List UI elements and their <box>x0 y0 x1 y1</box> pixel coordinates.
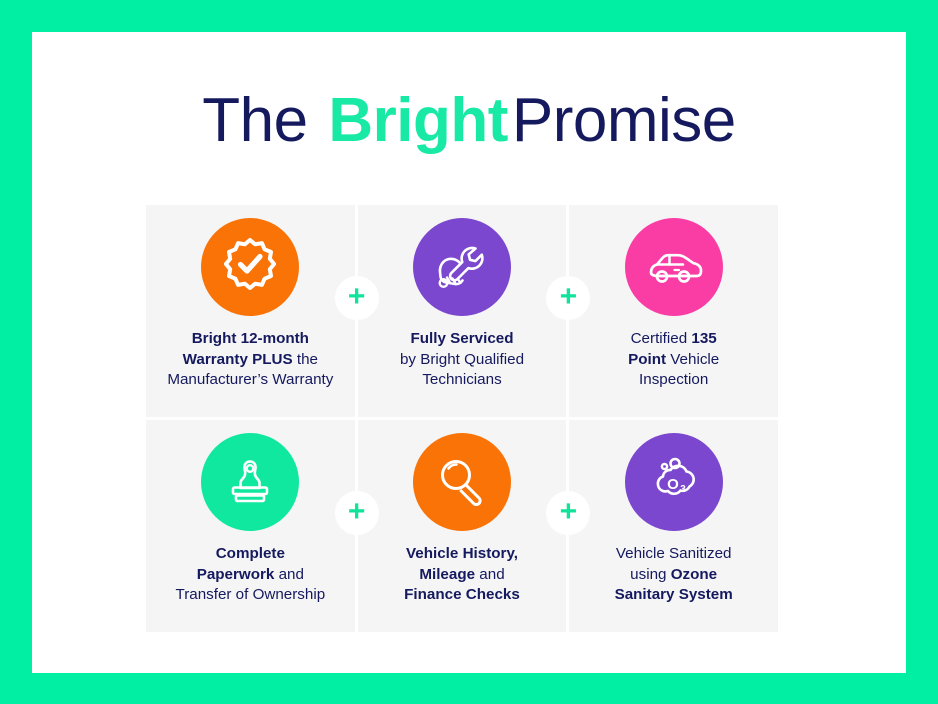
warranty-line1: Bright 12-month <box>192 330 309 347</box>
promise-card-sanitized[interactable]: O 3 Vehicle Sanitized using Ozone Sanita… <box>569 420 778 632</box>
rubber-stamp-icon <box>201 433 299 531</box>
inspection-line2-bold: Point <box>628 351 666 368</box>
warranty-line3: Manufacturer’s Warranty <box>167 371 333 388</box>
inspection-line1-pre: Certified <box>631 330 688 347</box>
serviced-line1: Fully Serviced <box>411 330 514 347</box>
promise-card-warranty-text: Bright 12-month Warranty PLUS the Manufa… <box>146 329 355 391</box>
connector-plus-4: + <box>546 491 590 535</box>
promise-card-history[interactable]: Vehicle History, Mileage and Finance Che… <box>358 420 567 632</box>
plus-icon: + <box>348 282 366 312</box>
warranty-line2-rest: the <box>297 351 318 368</box>
inspection-line3: Inspection <box>639 371 708 388</box>
title-word-bright: Bright <box>324 86 512 155</box>
car-icon <box>625 218 723 316</box>
paperwork-line1: Complete <box>216 545 285 562</box>
promise-card-warranty[interactable]: Bright 12-month Warranty PLUS the Manufa… <box>146 205 355 417</box>
plus-icon: + <box>348 497 366 527</box>
promise-card-history-text: Vehicle History, Mileage and Finance Che… <box>358 544 567 606</box>
promise-card-sanitized-text: Vehicle Sanitized using Ozone Sanitary S… <box>569 544 778 606</box>
connector-plus-1: + <box>335 276 379 320</box>
promise-card-paperwork[interactable]: Complete Paperwork and Transfer of Owner… <box>146 420 355 632</box>
serviced-line2: by Bright Qualified <box>400 351 524 368</box>
plus-icon: + <box>560 497 578 527</box>
connector-plus-2: + <box>546 276 590 320</box>
sanitized-line1: Vehicle Sanitized <box>616 545 732 562</box>
promise-card-paperwork-text: Complete Paperwork and Transfer of Owner… <box>146 544 355 606</box>
history-line2-rest: and <box>479 566 504 583</box>
sanitized-line2-bold: Ozone <box>671 566 717 583</box>
paperwork-line2-rest: and <box>279 566 304 583</box>
sanitized-line2-pre: using <box>630 566 666 583</box>
history-line3-bold: Finance Checks <box>404 586 520 603</box>
warranty-line2-bold: Warranty PLUS <box>183 351 293 368</box>
svg-text:O: O <box>667 476 679 493</box>
history-line2-bold: Mileage <box>419 566 475 583</box>
svg-text:3: 3 <box>680 484 686 495</box>
promise-card-serviced-text: Fully Serviced by Bright Qualified Techn… <box>358 329 567 391</box>
inspection-line1-bold: 135 <box>691 330 716 347</box>
ozone-cloud-icon: O 3 <box>625 433 723 531</box>
plus-icon: + <box>560 282 578 312</box>
inspection-line2-rest: Vehicle <box>670 351 719 368</box>
promise-panel: The BrightPromise Bright 12-month Warran… <box>32 32 906 673</box>
connector-plus-3: + <box>335 491 379 535</box>
page-title: The BrightPromise <box>32 90 906 152</box>
serviced-line3: Technicians <box>422 371 501 388</box>
promise-card-inspection[interactable]: Certified 135 Point Vehicle Inspection <box>569 205 778 417</box>
magnifying-glass-icon <box>413 433 511 531</box>
hand-wrench-icon <box>413 218 511 316</box>
title-word-the: The <box>202 86 307 155</box>
paperwork-line2-bold: Paperwork <box>197 566 275 583</box>
warranty-badge-check-icon <box>201 218 299 316</box>
paperwork-line3: Transfer of Ownership <box>175 586 325 603</box>
history-line1: Vehicle History, <box>406 545 518 562</box>
promise-card-grid: Bright 12-month Warranty PLUS the Manufa… <box>146 205 778 632</box>
promise-card-inspection-text: Certified 135 Point Vehicle Inspection <box>569 329 778 391</box>
promise-card-serviced[interactable]: Fully Serviced by Bright Qualified Techn… <box>358 205 567 417</box>
title-word-promise: Promise <box>512 86 736 155</box>
sanitized-line3-bold: Sanitary System <box>615 586 733 603</box>
